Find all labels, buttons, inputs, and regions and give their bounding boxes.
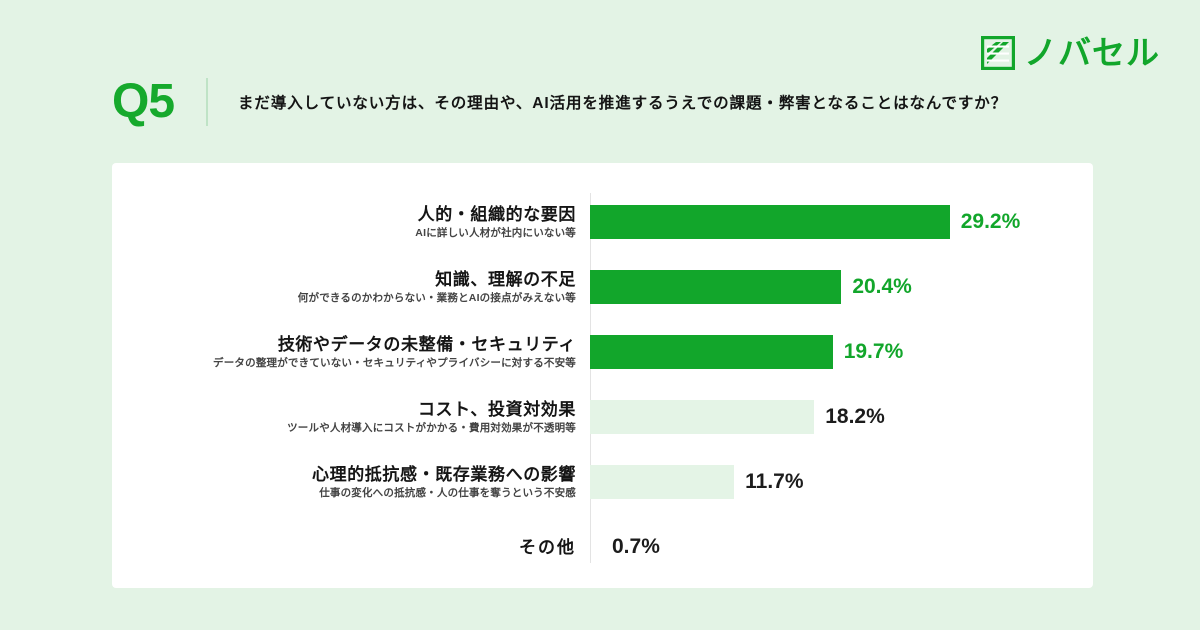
chart-row: 人的・組織的な要因AIに詳しい人材が社内にいない等29.2% (112, 199, 1093, 245)
chart-axis-line (590, 193, 591, 563)
brand-logo-text: ノバセル (1024, 36, 1160, 70)
chart-bar (590, 335, 833, 369)
chart-category-label: 心理的抵抗感・既存業務への影響 (312, 464, 576, 485)
chart-row: その他0.7% (112, 524, 1093, 570)
question-number: Q5 (112, 78, 174, 126)
chart-card: 人的・組織的な要因AIに詳しい人材が社内にいない等29.2%知識、理解の不足何が… (112, 163, 1093, 588)
chart-bar (590, 465, 734, 499)
horizontal-bar-chart: 人的・組織的な要因AIに詳しい人材が社内にいない等29.2%知識、理解の不足何が… (112, 163, 1093, 588)
chart-value-label: 20.4% (852, 275, 912, 299)
chart-bar-wrapper: 11.7% (590, 459, 1093, 505)
chart-value-label: 0.7% (612, 535, 660, 559)
question-header: Q5 まだ導入していない方は、その理由や、AI活用を推進するうえでの課題・弊害と… (112, 74, 1007, 130)
chart-value-label: 19.7% (844, 340, 904, 364)
chart-row-labels: 知識、理解の不足何ができるのかわからない・業務とAIの接点がみえない等 (112, 269, 590, 306)
chart-bar-wrapper: 29.2% (590, 199, 1093, 245)
chart-row: 知識、理解の不足何ができるのかわからない・業務とAIの接点がみえない等20.4% (112, 264, 1093, 310)
chart-bar (590, 400, 814, 434)
chart-category-label: その他 (519, 537, 576, 558)
chart-category-label: 人的・組織的な要因 (418, 204, 576, 225)
novasell-square-chart-icon (981, 36, 1015, 70)
question-title: まだ導入していない方は、その理由や、AI活用を推進するうえでの課題・弊害となるこ… (238, 91, 1007, 113)
chart-category-sublabel: ツールや人材導入にコストがかかる・費用対効果が不透明等 (287, 421, 576, 436)
chart-category-sublabel: 何ができるのかわからない・業務とAIの接点がみえない等 (298, 291, 576, 306)
chart-category-sublabel: AIに詳しい人材が社内にいない等 (415, 226, 576, 241)
chart-value-label: 11.7% (745, 470, 803, 494)
chart-category-label: 技術やデータの未整備・セキュリティ (278, 334, 576, 355)
chart-bar-wrapper: 18.2% (590, 394, 1093, 440)
chart-bar-wrapper: 0.7% (590, 524, 1093, 570)
chart-category-sublabel: データの整理ができていない・セキュリティやプライバシーに対する不安等 (213, 356, 576, 371)
chart-category-label: 知識、理解の不足 (435, 269, 576, 290)
chart-category-label: コスト、投資対効果 (418, 399, 576, 420)
chart-bar (590, 270, 841, 304)
chart-category-sublabel: 仕事の変化への抵抗感・人の仕事を奪うという不安感 (319, 486, 576, 501)
chart-row: コスト、投資対効果ツールや人材導入にコストがかかる・費用対効果が不透明等18.2… (112, 394, 1093, 440)
chart-row-labels: 心理的抵抗感・既存業務への影響仕事の変化への抵抗感・人の仕事を奪うという不安感 (112, 464, 590, 501)
chart-bar-wrapper: 19.7% (590, 329, 1093, 375)
chart-value-label: 18.2% (825, 405, 885, 429)
header-divider (206, 78, 208, 126)
chart-row: 心理的抵抗感・既存業務への影響仕事の変化への抵抗感・人の仕事を奪うという不安感1… (112, 459, 1093, 505)
chart-row-labels: 技術やデータの未整備・セキュリティデータの整理ができていない・セキュリティやプラ… (112, 334, 590, 371)
chart-row-labels: コスト、投資対効果ツールや人材導入にコストがかかる・費用対効果が不透明等 (112, 399, 590, 436)
chart-row-labels: その他 (112, 537, 590, 558)
chart-bar-wrapper: 20.4% (590, 264, 1093, 310)
chart-row-labels: 人的・組織的な要因AIに詳しい人材が社内にいない等 (112, 204, 590, 241)
chart-row: 技術やデータの未整備・セキュリティデータの整理ができていない・セキュリティやプラ… (112, 329, 1093, 375)
chart-value-label: 29.2% (961, 210, 1021, 234)
brand-logo: ノバセル (981, 36, 1160, 70)
chart-bar (590, 205, 950, 239)
